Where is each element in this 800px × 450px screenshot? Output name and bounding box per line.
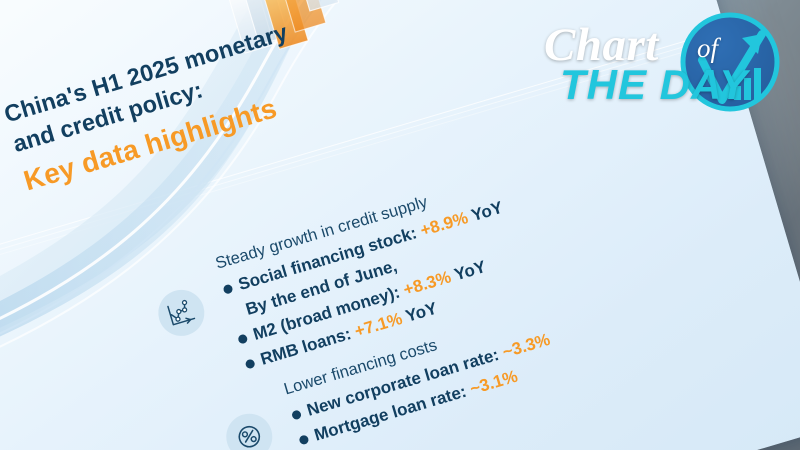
bullet-unit: YoY: [469, 197, 505, 224]
bullet-dot: [222, 283, 233, 294]
bullet-unit: YoY: [452, 257, 488, 284]
bullet-unit: YoY: [403, 299, 439, 326]
line-chart-icon: [153, 284, 210, 341]
bullet-dot: [291, 409, 302, 420]
page-title: China's H1 2025 monetary and credit poli…: [1, 0, 481, 200]
logo-word-of: of: [697, 33, 718, 64]
bullet-dot: [245, 359, 256, 370]
bullet-dot: [237, 334, 248, 345]
chart-of-the-day-logo: Chart of THE DAY: [534, 6, 786, 118]
logo-word-the-day: THE DAY: [560, 61, 748, 109]
bullet-dot: [298, 434, 309, 445]
coin-rate-icon: [221, 408, 278, 450]
